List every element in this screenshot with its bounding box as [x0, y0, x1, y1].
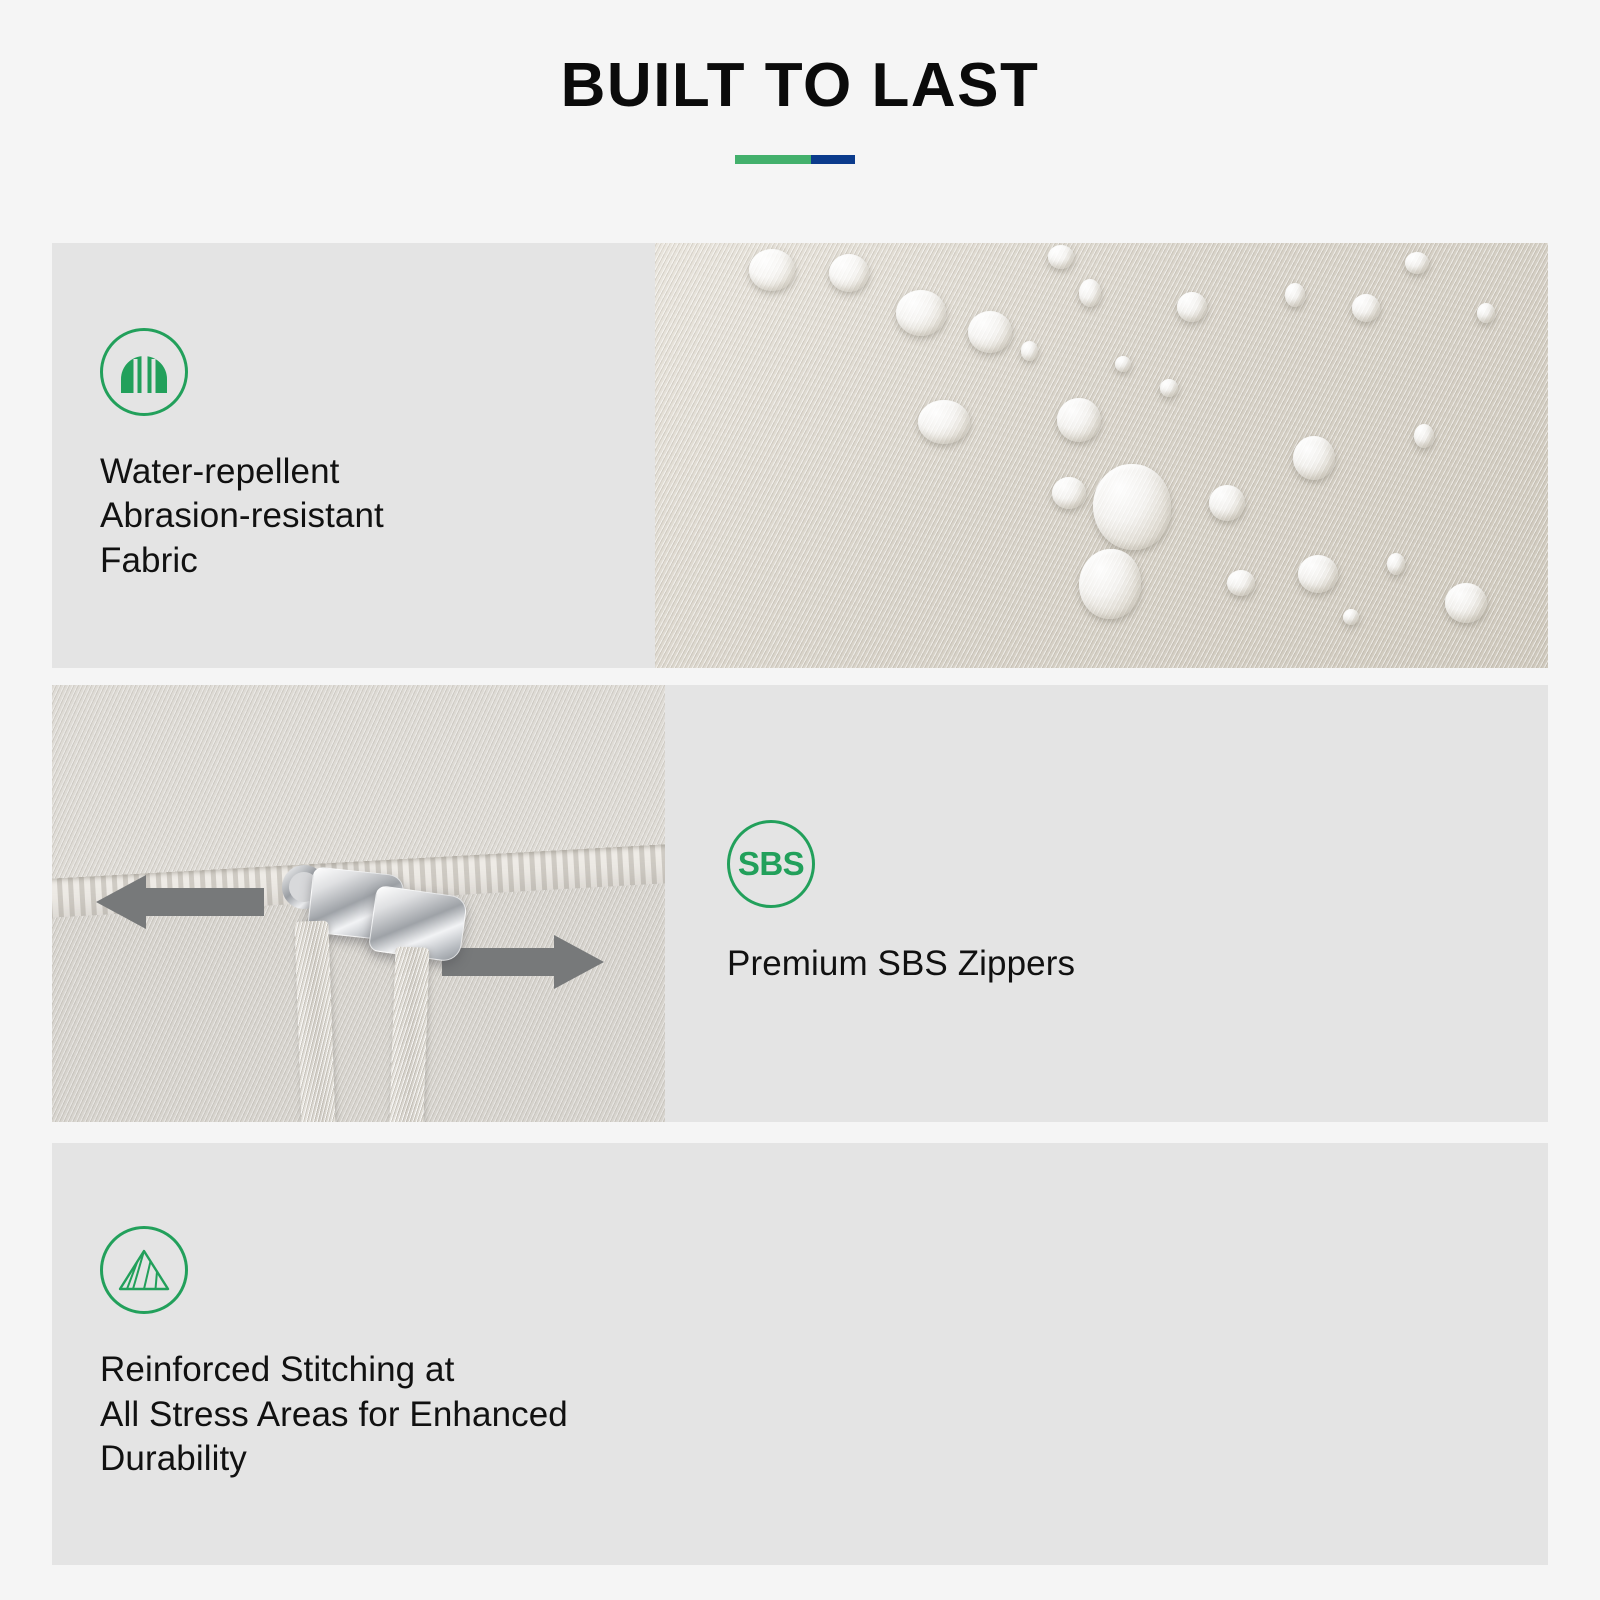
feature-caption: Premium SBS Zippers — [727, 942, 1548, 986]
header: BUILT TO LAST — [0, 0, 1600, 200]
caption-block: Reinforced Stitching at All Stress Areas… — [100, 1226, 1548, 1481]
feature-caption: Water-repellent Abrasion-resistant Fabri… — [100, 450, 655, 583]
backpack-icon — [100, 328, 188, 416]
sbs-logo-text: SBS — [738, 845, 804, 883]
zipper-tab-right — [389, 946, 430, 1122]
feature-row-reinforced-stitching: Reinforced Stitching at All Stress Areas… — [52, 1143, 1548, 1565]
droplet-group — [655, 243, 1548, 668]
layered-triangle-icon — [100, 1226, 188, 1314]
divider-green-segment — [735, 155, 811, 164]
feature-text-cell: SBS Premium SBS Zippers — [665, 685, 1548, 1122]
title-divider — [735, 155, 865, 164]
page-title: BUILT TO LAST — [561, 55, 1040, 117]
feature-text-cell: Reinforced Stitching at All Stress Areas… — [52, 1143, 1548, 1565]
zipper-closeup-photo — [52, 685, 665, 1122]
zipper-scene — [52, 685, 665, 1122]
sbs-logo-icon: SBS — [727, 820, 815, 908]
caption-block: Water-repellent Abrasion-resistant Fabri… — [100, 328, 655, 583]
feature-caption: Reinforced Stitching at All Stress Areas… — [100, 1348, 1548, 1481]
infographic-page: BUILT TO LAST — [0, 0, 1600, 1600]
divider-blue-segment — [811, 155, 855, 164]
feature-text-cell: Water-repellent Abrasion-resistant Fabri… — [52, 243, 655, 668]
feature-row-water-repellent: Water-repellent Abrasion-resistant Fabri… — [52, 243, 1548, 668]
caption-block: SBS Premium SBS Zippers — [727, 820, 1548, 986]
water-droplets-on-fabric-photo — [655, 243, 1548, 668]
feature-row-sbs-zippers: SBS Premium SBS Zippers — [52, 685, 1548, 1122]
